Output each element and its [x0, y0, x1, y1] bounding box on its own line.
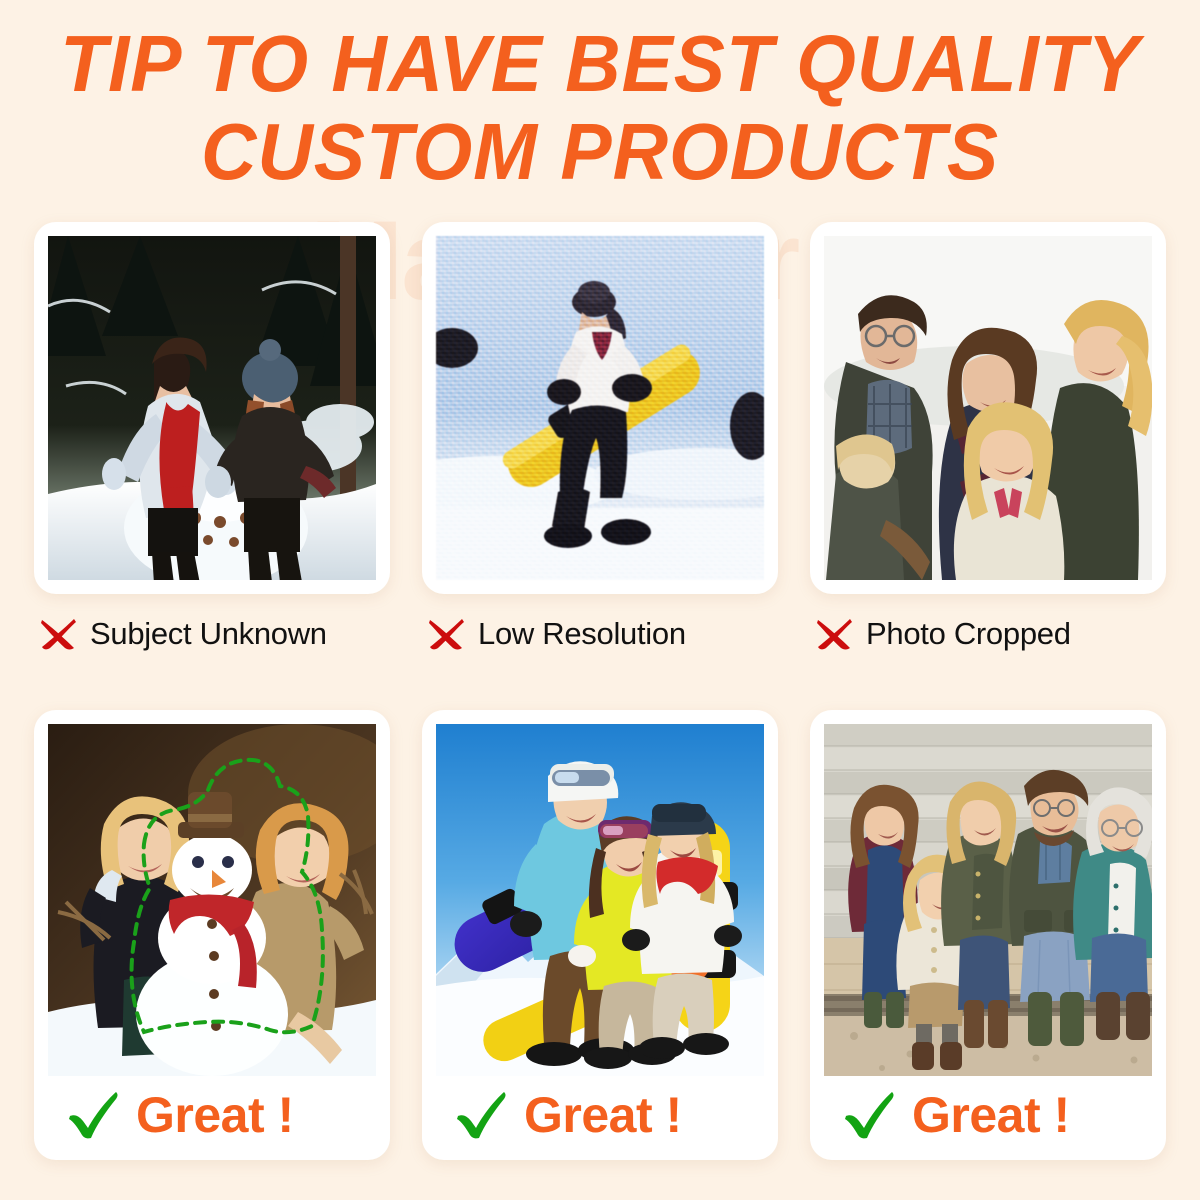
photo-card-great-family[interactable]: Great !	[810, 710, 1166, 1160]
label-great-family: Great !	[824, 1076, 1152, 1154]
example-cell-great-snowboarders: Great !	[422, 710, 778, 1160]
label-text: Great !	[912, 1086, 1070, 1144]
green-check-icon	[454, 1090, 508, 1140]
cropped-family-scene	[824, 236, 1152, 580]
page-title-line-1: TIP TO HAVE BEST QUALITY	[24, 20, 1176, 108]
photo-great-family	[824, 724, 1152, 1076]
example-cell-subject-unknown: Subject Unknown	[34, 222, 390, 652]
photo-low-resolution	[436, 236, 764, 580]
example-cell-great-family: Great !	[810, 710, 1166, 1160]
green-check-icon	[66, 1090, 120, 1140]
label-subject-unknown: Subject Unknown	[34, 616, 390, 652]
photo-card-great-snowboarders[interactable]: Great !	[422, 710, 778, 1160]
example-cell-great-snowman: Great !	[34, 710, 390, 1160]
label-text: Low Resolution	[478, 616, 686, 652]
label-low-resolution: Low Resolution	[422, 616, 778, 652]
red-x-icon	[426, 616, 466, 652]
snowman-hug-scene	[48, 724, 376, 1076]
page-title: TIP TO HAVE BEST QUALITY CUSTOM PRODUCTS	[0, 20, 1200, 196]
label-text: Subject Unknown	[90, 616, 327, 652]
good-examples-row: Great !	[0, 710, 1200, 1160]
label-photo-cropped: Photo Cropped	[810, 616, 1166, 652]
photo-card-subject-unknown[interactable]	[34, 222, 390, 594]
example-cell-photo-cropped: Photo Cropped	[810, 222, 1166, 652]
examples-grid: Subject Unknown	[0, 222, 1200, 1160]
label-great-snowboarders: Great !	[436, 1076, 764, 1154]
photo-photo-cropped	[824, 236, 1152, 580]
label-text: Great !	[524, 1086, 682, 1144]
snow-forest-scene	[48, 236, 376, 580]
label-text: Great !	[136, 1086, 294, 1144]
label-great-snowman: Great !	[48, 1076, 376, 1154]
family-barn-scene	[824, 724, 1152, 1076]
person-child	[954, 402, 1064, 580]
photo-great-snowboarders	[436, 724, 764, 1076]
photo-card-photo-cropped[interactable]	[810, 222, 1166, 594]
example-cell-low-resolution: Low Resolution	[422, 222, 778, 652]
label-text: Photo Cropped	[866, 616, 1071, 652]
red-x-icon	[814, 616, 854, 652]
photo-subject-unknown	[48, 236, 376, 580]
page-title-line-2: CUSTOM PRODUCTS	[24, 108, 1176, 196]
photo-card-great-snowman[interactable]: Great !	[34, 710, 390, 1160]
pixelated-snowboarder-scene	[436, 236, 764, 580]
photo-card-low-resolution[interactable]	[422, 222, 778, 594]
bad-examples-row: Subject Unknown	[0, 222, 1200, 652]
green-check-icon	[842, 1090, 896, 1140]
red-x-icon	[38, 616, 78, 652]
photo-great-snowman	[48, 724, 376, 1076]
snowboarders-scene	[436, 724, 764, 1076]
